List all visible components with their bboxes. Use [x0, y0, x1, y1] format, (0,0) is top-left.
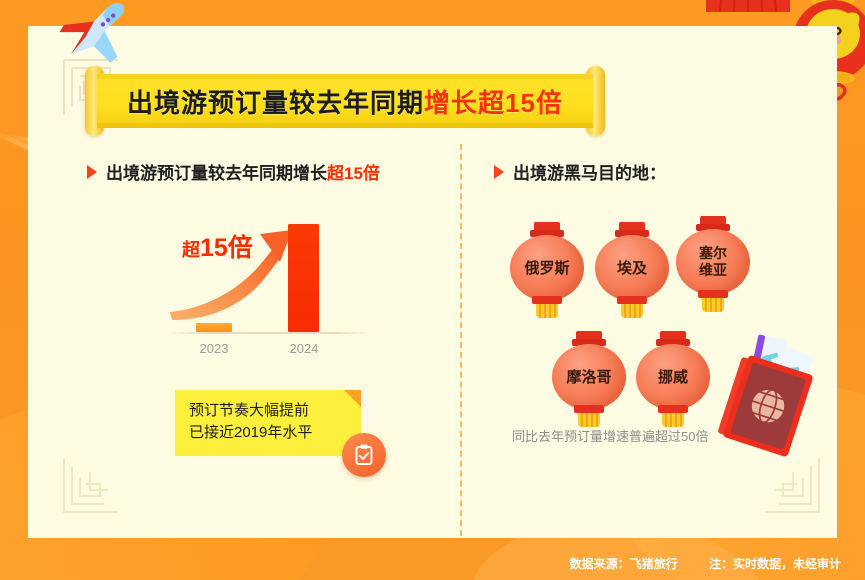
destinations-caption: 同比去年预订量增速普遍超过50倍: [512, 426, 708, 445]
lantern-label-line-2: 维亚: [699, 262, 727, 278]
lantern-label: 塞尔维亚: [676, 229, 750, 295]
tick-label-2023: 2023: [184, 341, 244, 356]
note-line-2: 已接近2019年水平: [189, 422, 312, 444]
bullet-triangle-icon: [87, 165, 97, 179]
lantern-label: 挪威: [636, 344, 710, 410]
chart-annotation-number: 15倍: [200, 234, 253, 262]
left-header-main: 出境游预订量较去年同期增长: [106, 164, 327, 183]
left-header-accent: 超15倍: [327, 164, 380, 183]
right-section-header: 出境游黑马目的地：: [494, 159, 666, 184]
tick-label-2024: 2024: [274, 341, 334, 356]
section-divider: [460, 144, 462, 536]
clipboard-check-icon: [342, 433, 386, 477]
booking-pace-note: 预订节奏大幅提前 已接近2019年水平: [175, 390, 361, 456]
title-banner: 出境游预订量较去年同期增长超15倍: [85, 70, 605, 132]
lantern-tassel: [702, 297, 724, 312]
bar-2023: [196, 323, 232, 332]
footer-disclaimer: 注：实时数据，未经审计: [709, 557, 841, 571]
lantern-tassel: [536, 303, 558, 318]
content-card: 出境游预订量较去年同期增长超15倍 出境游预订量较去年同期增长超15倍 出境游黑…: [28, 26, 837, 538]
chart-annotation-prefix: 超: [182, 240, 200, 260]
lantern-tassel: [662, 412, 684, 427]
lantern-label: 埃及: [595, 235, 669, 301]
note-corner-fold: [344, 390, 361, 407]
lantern-label: 摩洛哥: [552, 344, 626, 410]
scroll-sheet: 出境游预订量较去年同期增长超15倍: [97, 74, 593, 128]
right-header-label: 出境游黑马目的地：: [513, 159, 666, 184]
footer-source: 数据来源：飞猪旅行: [570, 557, 678, 571]
corner-ornament-bottom-left-icon: [60, 454, 122, 516]
lantern-label: 俄罗斯: [510, 235, 584, 301]
chart-annotation: 超15倍: [182, 228, 253, 264]
banner-title: 出境游预订量较去年同期增长超15倍: [127, 83, 563, 120]
banner-title-accent: 增长超15倍: [424, 88, 563, 118]
infographic-canvas: 出境游预订量较去年同期增长超15倍 出境游预订量较去年同期增长超15倍 出境游黑…: [0, 0, 865, 580]
bullet-triangle-icon: [494, 165, 504, 179]
passport-tickets-icon: [702, 320, 837, 468]
growth-bar-chart: 超15倍 2023 2024: [178, 222, 358, 362]
banner-title-main: 出境游预订量较去年同期: [127, 88, 424, 118]
lantern-tassel: [621, 303, 643, 318]
lantern-tassel: [578, 412, 600, 427]
bar-2024: [288, 224, 319, 332]
lantern-label-line-1: 塞尔: [699, 245, 727, 261]
footer: 数据来源：飞猪旅行 注：实时数据，未经审计: [0, 555, 865, 572]
left-section-header: 出境游预订量较去年同期增长超15倍: [87, 159, 380, 184]
left-header-label: 出境游预订量较去年同期增长超15倍: [106, 159, 380, 184]
note-text: 预订节奏大幅提前 已接近2019年水平: [189, 400, 312, 444]
note-line-1: 预订节奏大幅提前: [189, 400, 312, 422]
